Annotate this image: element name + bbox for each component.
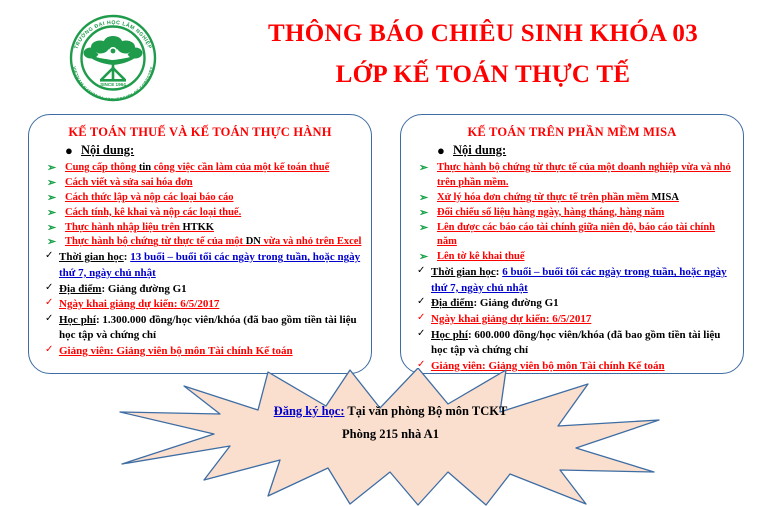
detail-label: Thời gian học — [59, 251, 124, 263]
detail-label: Ngày khai giảng dự kiến — [59, 298, 174, 310]
arrow-bullet-icon: ➢ — [419, 206, 428, 222]
detail-label: Địa điểm — [431, 297, 473, 309]
register-value: Tại văn phòng Bộ môn TCKT — [347, 404, 507, 418]
arrow-bullet-icon: ➢ — [47, 161, 56, 177]
detail-label: Địa điểm — [59, 283, 101, 295]
panel-heading: KẾ TOÁN THUẾ VÀ KẾ TOÁN THỰC HÀNH — [37, 125, 363, 140]
detail-value: Giảng đường G1 — [108, 283, 187, 295]
bullet-item: ➢Thực hành bộ chứng từ thực tế của một D… — [37, 235, 363, 250]
detail-list: ✓Thời gian học: 13 buổi – buổi tối các n… — [37, 250, 363, 359]
bullet-item: ➢Lên được các báo cáo tài chính giữa niê… — [409, 221, 735, 251]
check-bullet-icon: ✓ — [417, 327, 425, 341]
detail-label: Thời gian học — [431, 266, 496, 278]
detail-item: ✓Địa điểm: Giảng đường G1 — [409, 296, 735, 312]
check-bullet-icon: ✓ — [45, 296, 53, 310]
detail-item: ✓Ngày khai giảng dự kiến: 6/5/2017 — [37, 297, 363, 313]
content-label: ● Nội dung: — [37, 142, 363, 159]
bullet-item: ➢Cách tính, kê khai và nộp các loại thuế… — [37, 206, 363, 221]
starburst-text: Đăng ký học: Tại văn phòng Bộ môn TCKT P… — [118, 402, 663, 444]
detail-item: ✓Thời gian học: 6 buổi – buổi tối các ng… — [409, 265, 735, 296]
detail-list: ✓Thời gian học: 6 buổi – buổi tối các ng… — [409, 265, 735, 374]
dot-bullet-icon: ● — [437, 142, 445, 160]
detail-label: Giảng viên — [59, 345, 110, 357]
bullet-list: ➢Thực hành bộ chứng từ thực tế của một d… — [409, 161, 735, 265]
check-bullet-icon: ✓ — [45, 343, 53, 357]
arrow-bullet-icon: ➢ — [47, 206, 56, 222]
logo-since-text: SINCE 1964 — [100, 82, 126, 87]
bullet-text-tail: vừa và nhỏ trên Excel — [261, 236, 362, 247]
bullet-text: Xử lý hóa đơn chứng từ thực tế trên phần… — [437, 192, 651, 203]
poster-title: THÔNG BÁO CHIÊU SINH KHÓA 03 LỚP KẾ TOÁN… — [200, 18, 766, 91]
content-label: ● Nội dung: — [409, 142, 735, 159]
title-line-1: THÔNG BÁO CHIÊU SINH KHÓA 03 — [200, 18, 766, 49]
bullet-text-emphasis: HTKK — [182, 222, 214, 233]
bullet-text-tail: công việc cần làm của một kế toán thuế — [151, 162, 329, 173]
bullet-item: ➢Xử lý hóa đơn chứng từ thực tế trên phầ… — [409, 191, 735, 206]
detail-item: ✓Giảng viên: Giảng viên bộ môn Tài chính… — [37, 344, 363, 360]
bullet-item: ➢Cách viết và sửa sai hóa đơn — [37, 176, 363, 191]
bullet-item: ➢Thực hành bộ chứng từ thực tế của một d… — [409, 161, 735, 191]
check-bullet-icon: ✓ — [45, 312, 53, 326]
arrow-bullet-icon: ➢ — [47, 221, 56, 237]
arrow-bullet-icon: ➢ — [419, 191, 428, 207]
bullet-text: Lên tờ kê khai thuế — [437, 251, 525, 262]
arrow-bullet-icon: ➢ — [47, 176, 56, 192]
bullet-text-emphasis: MISA — [651, 192, 678, 203]
content-label-text: Nội dung: — [81, 143, 134, 157]
bullet-text-emphasis: DN — [246, 236, 261, 247]
bullet-text: Đối chiếu số liệu hàng ngày, hàng tháng,… — [437, 207, 664, 218]
poster-header: TRƯỜNG ĐẠI HỌC LÂM NGHIỆP VIETNAM NATION… — [0, 0, 776, 108]
bullet-text: Cung cấp thông — [65, 162, 139, 173]
detail-item: ✓Địa điểm: Giảng đường G1 — [37, 282, 363, 298]
registration-starburst: Đăng ký học: Tại văn phòng Bộ môn TCKT P… — [118, 368, 663, 506]
bullet-list: ➢Cung cấp thông tin công việc cần làm củ… — [37, 161, 363, 250]
detail-item: ✓Thời gian học: 13 buổi – buổi tối các n… — [37, 250, 363, 281]
detail-label: Ngày khai giảng dự kiến — [431, 313, 546, 325]
detail-value: 6/5/2017 — [552, 313, 591, 325]
university-logo: TRƯỜNG ĐẠI HỌC LÂM NGHIỆP VIETNAM NATION… — [58, 10, 168, 102]
bullet-text-emphasis: tin — [139, 162, 151, 173]
bullet-item: ➢Cung cấp thông tin công việc cần làm củ… — [37, 161, 363, 176]
course-panel-misa-software: KẾ TOÁN TRÊN PHẦN MỀM MISA ● Nội dung: ➢… — [400, 114, 744, 374]
bullet-item: ➢Cách thức lập và nộp các loại báo cáo — [37, 191, 363, 206]
arrow-bullet-icon: ➢ — [419, 221, 428, 237]
bullet-text: Thực hành bộ chứng từ thực tế của một — [65, 236, 246, 247]
bullet-text: Cách tính, kê khai và nộp các loại thuế. — [65, 207, 241, 218]
arrow-bullet-icon: ➢ — [47, 191, 56, 207]
check-bullet-icon: ✓ — [417, 295, 425, 309]
bullet-text: Cách thức lập và nộp các loại báo cáo — [65, 192, 233, 203]
bullet-item: ➢Thực hành nhập liệu trên HTKK — [37, 221, 363, 236]
dot-bullet-icon: ● — [65, 142, 73, 160]
check-bullet-icon: ✓ — [45, 249, 53, 263]
arrow-bullet-icon: ➢ — [419, 161, 428, 177]
content-label-text: Nội dung: — [453, 143, 506, 157]
panel-heading: KẾ TOÁN TRÊN PHẦN MỀM MISA — [409, 125, 735, 140]
bullet-text: Lên được các báo cáo tài chính giữa niên… — [437, 222, 715, 248]
bullet-text: Thực hành nhập liệu trên — [65, 222, 182, 233]
title-line-2: LỚP KẾ TOÁN THỰC TẾ — [200, 59, 766, 90]
detail-label: Học phí — [431, 329, 468, 341]
bullet-text: Cách viết và sửa sai hóa đơn — [65, 177, 193, 188]
check-bullet-icon: ✓ — [417, 311, 425, 325]
room-line: Phòng 215 nhà A1 — [118, 425, 663, 444]
detail-value: Giảng viên bộ môn Tài chính Kế toán — [116, 345, 292, 357]
bullet-item: ➢Lên tờ kê khai thuế — [409, 250, 735, 265]
detail-value: Giảng đường G1 — [480, 297, 559, 309]
detail-value: 600.000 đồng/học viên/khóa (đã bao gồm t… — [431, 329, 720, 357]
detail-value: 1.300.000 đồng/học viên/khóa (đã bao gồm… — [59, 314, 357, 342]
detail-item: ✓Học phí: 600.000 đồng/học viên/khóa (đã… — [409, 328, 735, 359]
bullet-item: ➢Đối chiếu số liệu hàng ngày, hàng tháng… — [409, 206, 735, 221]
detail-item: ✓Ngày khai giảng dự kiến: 6/5/2017 — [409, 312, 735, 328]
bullet-text: Thực hành bộ chứng từ thực tế của một do… — [437, 162, 731, 188]
detail-value: 6/5/2017 — [180, 298, 219, 310]
check-bullet-icon: ✓ — [45, 281, 53, 295]
check-bullet-icon: ✓ — [417, 264, 425, 278]
course-panel-tax-accounting: KẾ TOÁN THUẾ VÀ KẾ TOÁN THỰC HÀNH ● Nội … — [28, 114, 372, 374]
detail-label: Học phí — [59, 314, 96, 326]
detail-item: ✓Học phí: 1.300.000 đồng/học viên/khóa (… — [37, 313, 363, 344]
register-label: Đăng ký học: — [274, 404, 345, 418]
